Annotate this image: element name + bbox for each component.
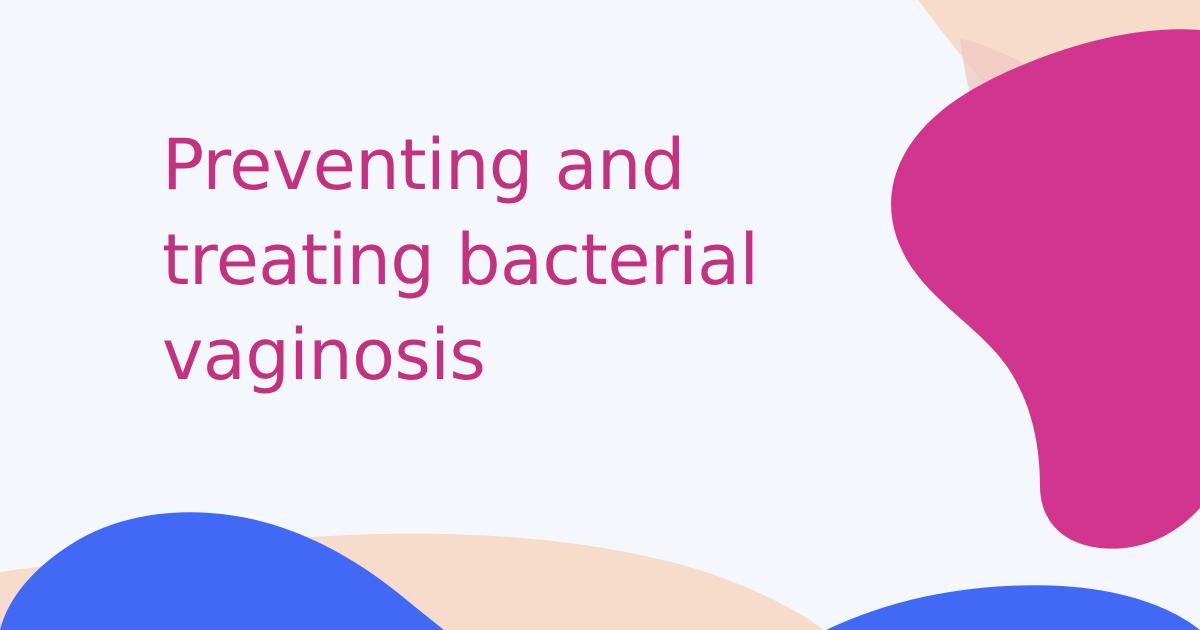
share-card: Preventing and treating bacterial vagino…	[0, 0, 1200, 630]
card-content: Preventing and treating bacterial vagino…	[0, 0, 1200, 630]
page-title: Preventing and treating bacterial vagino…	[162, 118, 822, 403]
